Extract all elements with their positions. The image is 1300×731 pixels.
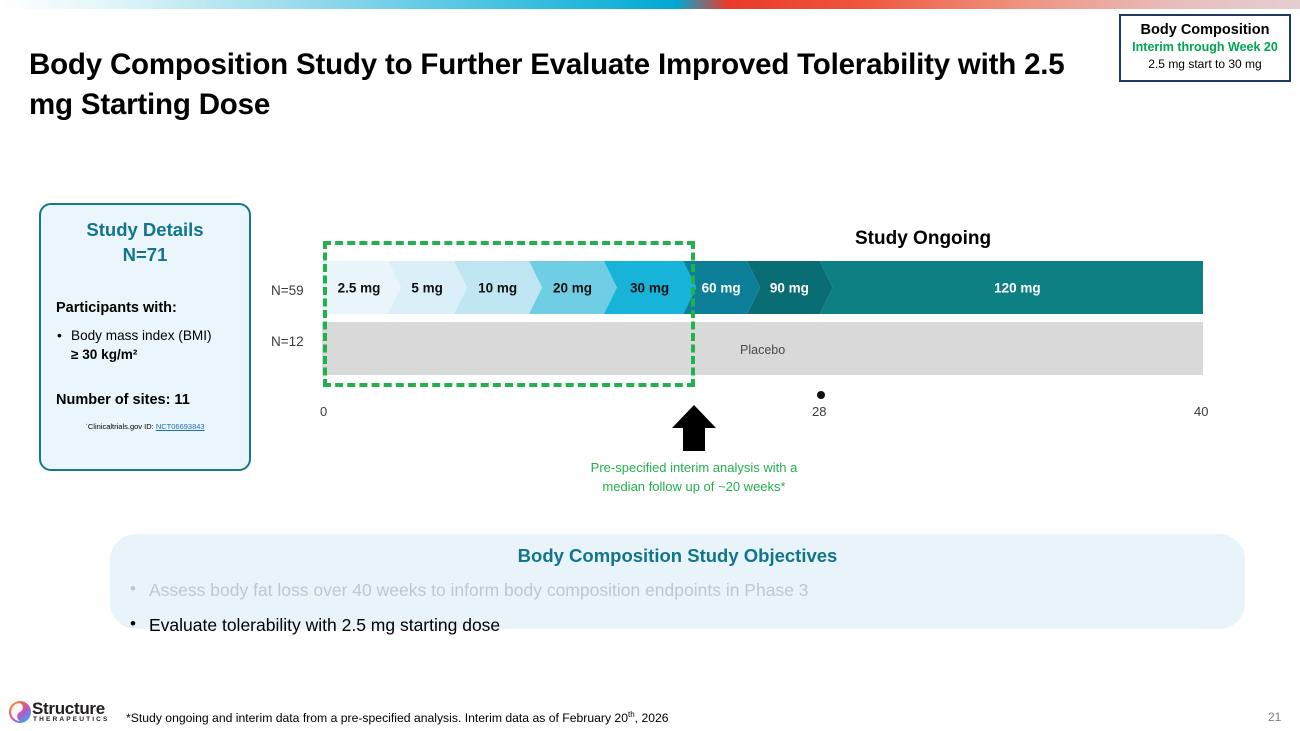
interim-analysis-caption: Pre-specified interim analysis with a me… — [588, 459, 800, 496]
dose-segment-label: 60 mg — [702, 281, 741, 296]
objective-text-1: Assess body fat loss over 40 weeks to in… — [149, 579, 809, 601]
dose-arm-n-label: N=59 — [271, 283, 304, 298]
bmi-line-2: ≥ 30 kg/m² — [71, 347, 137, 362]
study-details-card: Study Details N=71 Participants with: • … — [39, 203, 251, 471]
dose-segment-label: 90 mg — [770, 281, 809, 296]
bullet-dot-icon: • — [57, 326, 71, 364]
week-28-marker-dot-icon — [817, 391, 825, 399]
corner-badge-line2: Interim through Week 20 — [1121, 39, 1289, 56]
clinicaltrials-prefix: ˈClinicaltrials.gov ID: — [85, 422, 155, 431]
page-number: 21 — [1268, 710, 1281, 724]
corner-badge-line1: Body Composition — [1121, 22, 1289, 39]
corner-badge-line3: 2.5 mg start to 30 mg — [1121, 56, 1289, 73]
study-ongoing-label: Study Ongoing — [855, 228, 991, 250]
clinicaltrials-id-link[interactable]: NCT06693843 — [156, 422, 205, 431]
corner-badge: Body Composition Interim through Week 20… — [1119, 14, 1291, 82]
participants-criteria-item: • Body mass index (BMI) ≥ 30 kg/m² — [57, 326, 242, 364]
bmi-line-1: Body mass index (BMI) — [71, 328, 212, 343]
objective-bullet-icon-1: • — [117, 579, 149, 601]
axis-tick-28: 28 — [812, 404, 826, 419]
placebo-bar-label: Placebo — [740, 343, 785, 357]
objective-bullet-icon-2: • — [117, 614, 149, 636]
top-accent-gradient-bar — [0, 0, 1300, 9]
number-of-sites: Number of sites: 11 — [56, 392, 249, 408]
participants-heading: Participants with: — [56, 300, 249, 316]
dose-segment-label: 120 mg — [994, 281, 1041, 296]
objective-text-2: Evaluate tolerability with 2.5 mg starti… — [149, 614, 500, 636]
axis-tick-40: 40 — [1194, 404, 1208, 419]
axis-tick-0: 0 — [320, 404, 327, 419]
objectives-panel: Body Composition Study Objectives • Asse… — [110, 534, 1245, 629]
brand-subtitle: THERAPEUTICS — [33, 716, 110, 723]
footnote: *Study ongoing and interim data from a p… — [126, 710, 669, 725]
study-details-title: Study Details — [41, 218, 249, 242]
clinicaltrials-reference: ˈClinicaltrials.gov ID: NCT06693843 — [41, 422, 249, 431]
interim-analysis-window-box — [323, 241, 695, 387]
page-title: Body Composition Study to Further Evalua… — [29, 45, 1089, 125]
study-details-n-total: N=71 — [41, 242, 249, 268]
participants-criteria-text: Body mass index (BMI) ≥ 30 kg/m² — [71, 326, 212, 364]
footnote-tail: , 2026 — [635, 711, 669, 725]
objectives-title: Body Composition Study Objectives — [110, 534, 1245, 567]
footnote-superscript: th — [628, 710, 635, 719]
footnote-main: *Study ongoing and interim data from a p… — [126, 711, 628, 725]
objective-item-1: • Assess body fat loss over 40 weeks to … — [117, 579, 1245, 601]
interim-analysis-arrow-icon — [672, 405, 716, 451]
placebo-arm-n-label: N=12 — [271, 334, 304, 349]
objective-item-2: • Evaluate tolerability with 2.5 mg star… — [117, 614, 1245, 636]
